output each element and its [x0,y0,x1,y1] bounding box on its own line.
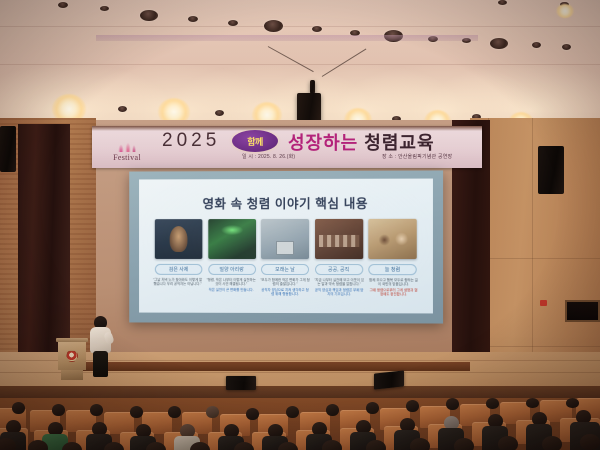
body-accent: 공직자 양심으로 지켜 생각하고 청렴 위해 행동합니다. [260,287,310,296]
caption-pill: 공공, 공직 [315,264,363,275]
downlight-icon [140,10,158,21]
stage-monitor-speaker [226,376,256,390]
slide-title: 영화 속 청렴 이야기 핵심 내용 [139,193,433,213]
audience-head [526,398,539,408]
audience-head [52,404,65,416]
ceiling [0,0,600,122]
auditorium-photo: Festival 2025 함께 성장하는 청렴교육 일 시 : 2025. 8… [0,0,600,450]
audience-head [28,440,48,450]
thumbnail-two-people [368,219,416,259]
stage-monitor-speaker [374,370,404,389]
presenter-legs [93,351,108,377]
audience-head [190,442,210,450]
downlight-icon [312,26,322,32]
audience-head [542,436,562,450]
audience-head [146,442,166,450]
downlight-icon [490,38,508,49]
downlight-icon [228,20,238,26]
audience-head [168,406,181,418]
thumbnail-office-room [261,219,309,259]
presenter [88,316,114,378]
audience-head [406,400,419,412]
audience-head [446,398,459,410]
audience-seating [0,398,600,450]
audience-head [90,404,103,416]
downlight-icon [100,6,109,11]
event-banner: Festival 2025 함께 성장하는 청렴교육 일 시 : 2025. 8… [92,126,482,168]
ceiling-hanging-speaker [310,80,315,94]
body-accent: 공직 양심과 책임과 청렴은 부패 방지의 기초입니다. [314,288,364,297]
audience-head [234,442,254,450]
speaker-support-wire [322,49,367,77]
audience-head [322,440,342,450]
audience-head [12,402,25,414]
institution-emblem-icon [66,350,78,362]
body-accent-red: 그때 청렴으로부터 그게 생명과 열정에도 완전합니다. [368,288,418,297]
lectern-base [61,370,83,380]
audience-head [246,408,259,420]
festival-flame-icon [114,139,140,152]
slide-body-column: "그날 저녁 누가 찾아와도 이렇게 말했습니다 우리 공직자는 아닙니다." [153,278,202,296]
slide-body-column: "모두가 함께한 작은 변화가 그게 청렴의 출발입니다." 공직자 양심으로 … [260,278,310,296]
speaker-support-wire [268,46,314,72]
downlight-icon [215,110,224,116]
body-accent: 작은 실천이 큰 변화를 만듭니다. [206,287,256,291]
lectern-body [58,342,86,370]
banner-date-text: 일 시 : 2025. 8. 26.(화) [242,153,295,160]
emergency-sign [540,300,547,306]
audience-head [326,404,339,416]
audience-head [498,436,518,450]
slide-caption-row: 검은 사제 밀양 아리랑 모래는 날 공공, 공직 늘 청렴 [155,264,417,275]
audience-head [410,438,430,450]
stage-back-trim [66,362,470,371]
audience-head [206,406,219,418]
banner-title-highlight: 성장하는 [288,133,358,153]
downlight-icon [188,16,198,22]
body-quote: "모두가 함께한 작은 변화가 그게 청렴의 출발입니다." [260,278,310,287]
downlight-icon [264,20,283,32]
slide-thumbnail-row [155,219,417,259]
festival-logo: Festival [98,132,156,162]
downlight-icon [562,44,571,50]
wall-speaker-right [538,146,564,194]
lectern-with-emblem [56,338,88,380]
projection-screen: 영화 속 청렴 이야기 핵심 내용 검은 사제 밀양 아리랑 모래는 날 공공,… [129,170,443,323]
banner-venue-text: 장 소 : 안산올림픽기념관 공연장 [382,153,452,160]
wall-speaker-left [0,126,16,172]
presentation-slide: 영화 속 청렴 이야기 핵심 내용 검은 사제 밀양 아리랑 모래는 날 공공,… [139,179,433,314]
caption-pill: 밀양 아리랑 [208,264,256,275]
banner-title-rest: 청렴교육 [364,133,434,153]
body-quote: "지금 나부터 실천해 보고 이웃이 있는 말과 약속 청렴을 말합니다." [314,278,364,287]
banner-year: 2025 [162,130,220,152]
banner-badge: 함께 [232,130,278,152]
audience-head [566,398,579,408]
body-quote: "청렴, 작은 나부터 이렇게 실천하는 것이 사건 해결됩니다." [206,278,256,287]
audience-head [366,440,386,450]
downlight-icon [118,106,127,112]
control-booth-window [565,300,600,322]
festival-logo-text: Festival [113,153,141,162]
thumbnail-assembly [315,219,363,259]
downlight-icon [532,42,541,48]
audience-head [0,438,16,450]
banner-title: 성장하는 청렴교육 [288,129,435,155]
downlight-icon [498,0,507,5]
audience-head [580,434,600,450]
audience-head [130,406,143,418]
caption-pill: 늘 청렴 [368,264,416,275]
body-quote: "그날 저녁 누가 찾아와도 이렇게 말했습니다 우리 공직자는 아닙니다." [153,278,202,287]
downlight-icon [58,2,68,8]
spotlight-icon [556,4,574,18]
thumbnail-dark-figure [155,219,203,259]
audience-head [486,398,499,409]
banner-bottom-strip [96,35,478,41]
slide-body-column: "청렴, 작은 나부터 이렇게 실천하는 것이 사건 해결됩니다." 작은 실천… [206,278,256,296]
body-quote: 함께 모으고 행복 모두로 향하는 길이 국민의 믿음입니다. [368,278,418,287]
slide-body-column: "지금 나부터 실천해 보고 이웃이 있는 말과 약속 청렴을 말합니다." 공… [314,278,364,296]
thumbnail-green-night [208,219,256,259]
slide-body-row: "그날 저녁 누가 찾아와도 이렇게 말했습니다 우리 공직자는 아닙니다." … [153,278,419,296]
caption-pill: 모래는 날 [261,264,309,275]
audience-head [286,406,299,418]
audience-head [454,438,474,450]
caption-pill: 검은 사제 [155,264,203,275]
audience-head [366,402,379,414]
audience-head [278,442,298,450]
slide-body-column: 함께 모으고 행복 모두로 향하는 길이 국민의 믿음입니다. 그때 청렴으로부… [368,278,418,296]
